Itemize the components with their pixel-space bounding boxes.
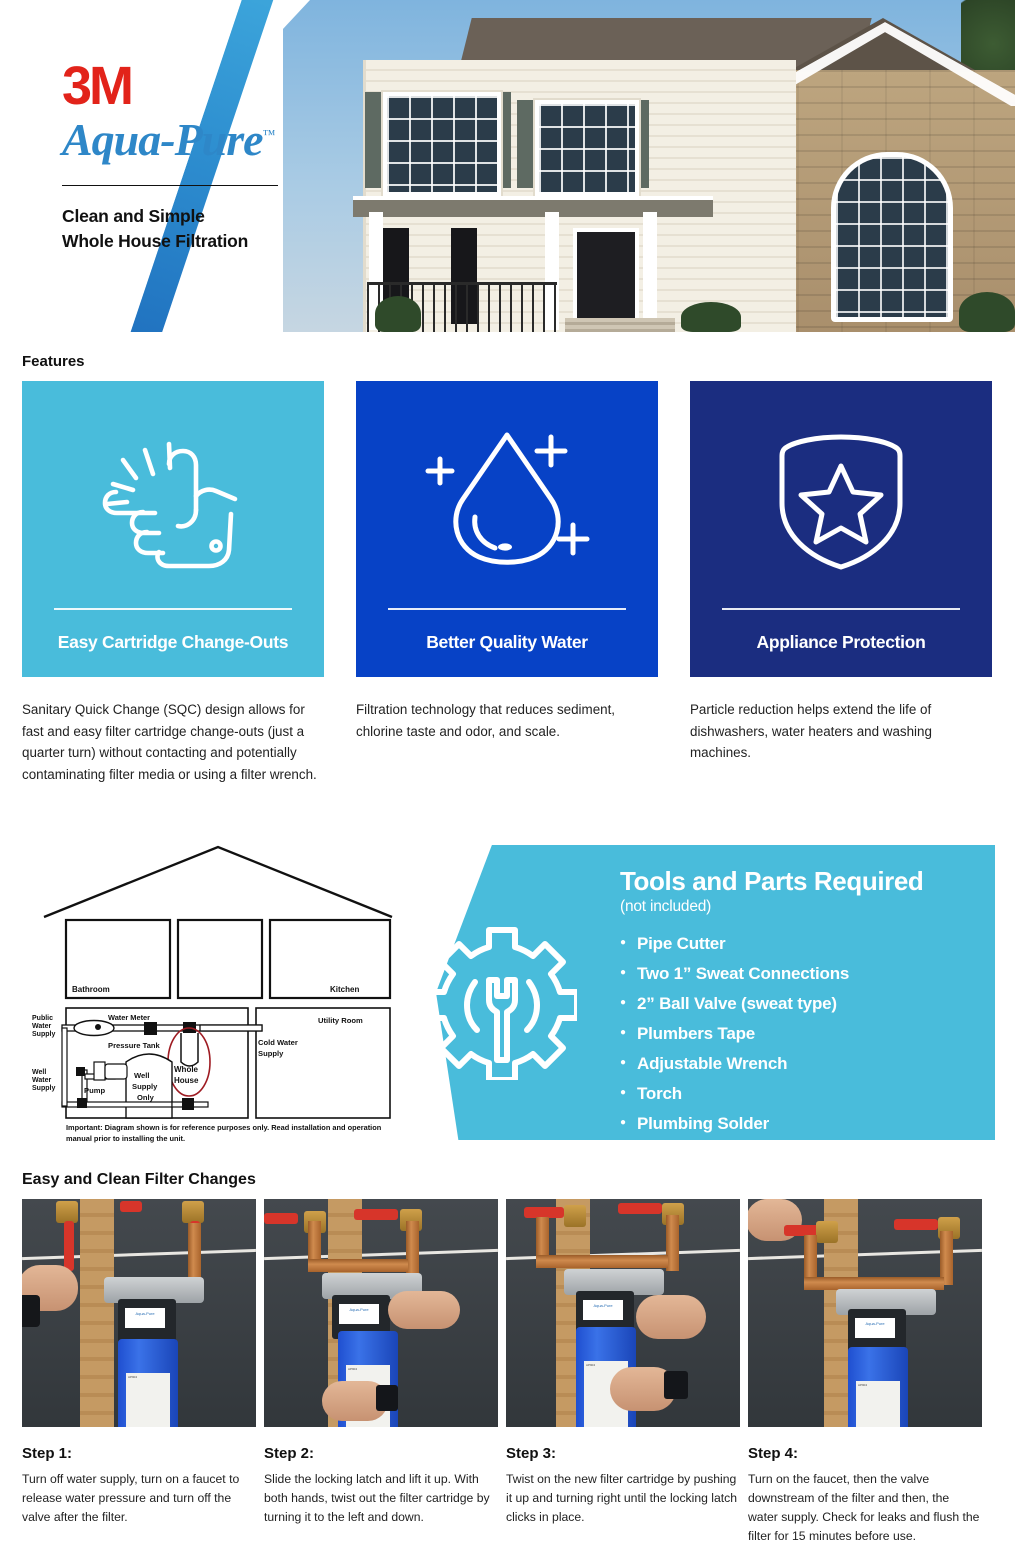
step-1-photo: Aqua-Pure AP904 xyxy=(22,1199,256,1427)
diagram-label-bathroom: Bathroom xyxy=(72,985,110,994)
upper-window xyxy=(535,100,639,196)
tools-list-item: Pipe Cutter xyxy=(620,935,990,952)
tools-list-item: 2” Ball Valve (sweat type) xyxy=(620,995,990,1012)
feature-description: Filtration technology that reduces sedim… xyxy=(356,699,654,742)
card-divider xyxy=(54,608,292,610)
feature-card-better-water: Better Quality Water xyxy=(356,381,658,677)
aqua-pure-wordmark: Aqua-Pure xyxy=(62,114,263,165)
water-droplet-icon xyxy=(356,403,658,598)
feature-column: Better Quality Water Filtration technolo… xyxy=(356,381,658,799)
3m-logo: 3M xyxy=(62,62,352,111)
copper-pipe xyxy=(536,1217,549,1259)
svg-text:Water: Water xyxy=(32,1077,51,1084)
step-2-photo: Aqua-Pure AP904 xyxy=(264,1199,498,1427)
step-description: Slide the locking latch and lift it up. … xyxy=(264,1470,498,1527)
red-valve-handle xyxy=(354,1209,398,1220)
feature-card-easy-cartridge: Easy Cartridge Change-Outs xyxy=(22,381,324,677)
tools-list: Pipe Cutter Two 1” Sweat Connections 2” … xyxy=(620,935,990,1132)
tools-list-item: Adjustable Wrench xyxy=(620,1055,990,1072)
hand xyxy=(636,1295,706,1339)
tools-text-block: Tools and Parts Required (not included) … xyxy=(620,868,990,1145)
diagram-label-pressure-tank: Pressure Tank xyxy=(108,1041,161,1050)
copper-pipe xyxy=(536,1255,668,1268)
brand-divider xyxy=(62,185,278,186)
brand-tagline: Clean and Simple Whole House Filtration xyxy=(62,204,352,255)
features-row: Easy Cartridge Change-Outs Sanitary Quic… xyxy=(22,381,993,799)
sleeve xyxy=(22,1295,40,1327)
svg-text:House: House xyxy=(174,1076,199,1085)
step-column: Aqua-Pure AP904 Step 3: Twist on the new… xyxy=(506,1199,740,1546)
step-description: Turn on the faucet, then the valve downs… xyxy=(748,1470,982,1546)
step-title: Step 1: xyxy=(22,1445,256,1462)
filter-cap-label: Aqua-Pure xyxy=(125,1308,165,1328)
copper-pipe xyxy=(308,1221,321,1263)
diagram-label-cold-water: Cold Water xyxy=(258,1038,298,1047)
step-column: Aqua-Pure AP904 Step 2: Slide the lockin… xyxy=(264,1199,498,1546)
diagram-label-well-supply-only: Well xyxy=(134,1071,149,1080)
filter-cap-label: Aqua-Pure xyxy=(339,1304,379,1324)
upper-window xyxy=(383,92,501,196)
filter-cap-label: Aqua-Pure xyxy=(855,1318,895,1338)
shield-star-icon xyxy=(690,403,992,598)
diagram-label-water-meter: Water Meter xyxy=(108,1013,150,1022)
diagram-label-public-supply: Public xyxy=(32,1015,53,1022)
step-description: Turn off water supply, turn on a faucet … xyxy=(22,1470,256,1527)
feature-column: Easy Cartridge Change-Outs Sanitary Quic… xyxy=(22,381,324,799)
step-column: Aqua-Pure AP904 Step 1: Turn off water s… xyxy=(22,1199,256,1546)
diagram-label-kitchen: Kitchen xyxy=(330,985,359,994)
svg-text:Water: Water xyxy=(32,1023,51,1030)
filter-change-steps-row: Aqua-Pure AP904 Step 1: Turn off water s… xyxy=(22,1199,993,1546)
tools-list-item: Two 1” Sweat Connections xyxy=(620,965,990,982)
diagram-label-utility-room: Utility Room xyxy=(318,1016,363,1025)
plumbing-diagram: Bathroom Kitchen Utility Room Public Wat… xyxy=(22,840,422,1150)
diagram-disclaimer-note: Important: Diagram shown is for referenc… xyxy=(66,1123,396,1144)
window-shutter xyxy=(365,92,382,188)
wrist-watch xyxy=(664,1371,688,1399)
card-divider xyxy=(722,608,960,610)
tools-list-item: Plumbers Tape xyxy=(620,1025,990,1042)
front-door xyxy=(573,228,639,332)
copper-pipe xyxy=(308,1259,408,1272)
wood-stud xyxy=(80,1199,114,1427)
red-valve-handle xyxy=(264,1213,298,1224)
red-valve-handle xyxy=(64,1221,74,1271)
hand xyxy=(388,1291,460,1329)
shrub xyxy=(959,292,1015,332)
pointing-hand-icon xyxy=(22,403,324,598)
feature-card-label: Better Quality Water xyxy=(426,632,588,653)
brand-block: 3M Aqua-Pure™ Clean and Simple Whole Hou… xyxy=(0,0,352,254)
brass-fitting xyxy=(56,1201,78,1223)
diagram-label-pump: Pump xyxy=(84,1086,105,1095)
step-title: Step 3: xyxy=(506,1445,740,1462)
aqua-pure-logo: Aqua-Pure™ xyxy=(62,117,274,163)
step-3-photo: Aqua-Pure AP904 xyxy=(506,1199,740,1427)
tools-subtitle: (not included) xyxy=(620,898,990,916)
feature-card-appliance-protection: Appliance Protection xyxy=(690,381,992,677)
shrub xyxy=(375,296,421,332)
cartridge-label: AP904 xyxy=(856,1381,900,1427)
diagram-label-whole-house: Whole xyxy=(174,1065,199,1074)
svg-text:Supply: Supply xyxy=(32,1085,55,1092)
entry-steps xyxy=(565,318,675,332)
feature-card-label: Appliance Protection xyxy=(756,632,925,653)
red-valve-handle xyxy=(618,1203,662,1214)
filter-cap: Aqua-Pure xyxy=(118,1299,176,1343)
brass-fitting xyxy=(564,1205,586,1227)
feature-column: Appliance Protection Particle reduction … xyxy=(690,381,992,799)
arched-window xyxy=(831,152,953,322)
svg-text:Supply: Supply xyxy=(32,1031,55,1038)
step-title: Step 2: xyxy=(264,1445,498,1462)
gear-wrench-icon xyxy=(427,920,577,1080)
porch-roof xyxy=(353,196,713,217)
svg-text:Supply: Supply xyxy=(132,1082,158,1091)
features-section-title: Features xyxy=(22,353,85,370)
trademark-symbol: ™ xyxy=(263,126,275,141)
header-banner: 3M Aqua-Pure™ Clean and Simple Whole Hou… xyxy=(0,0,1015,332)
cartridge-label: AP904 xyxy=(126,1373,170,1427)
step-column: Aqua-Pure AP904 Step 4: Turn on the fauc… xyxy=(748,1199,982,1546)
porch-column xyxy=(643,212,657,330)
tools-list-item: Plumbing Solder xyxy=(620,1115,990,1132)
brass-fitting xyxy=(816,1221,838,1243)
red-valve-handle xyxy=(120,1201,142,1212)
tools-list-item: Torch xyxy=(620,1085,990,1102)
feature-description: Sanitary Quick Change (SQC) design allow… xyxy=(22,699,320,786)
wrist-watch xyxy=(376,1385,398,1411)
step-4-photo: Aqua-Pure AP904 xyxy=(748,1199,982,1427)
filter-changes-section-title: Easy and Clean Filter Changes xyxy=(22,1171,256,1189)
tagline-line-1: Clean and Simple xyxy=(62,204,352,229)
filter-cap-label: Aqua-Pure xyxy=(583,1300,623,1320)
tagline-line-2: Whole House Filtration xyxy=(62,229,352,254)
feature-description: Particle reduction helps extend the life… xyxy=(690,699,988,764)
filter-cartridge: AP904 xyxy=(118,1339,178,1427)
step-description: Twist on the new filter cartridge by pus… xyxy=(506,1470,740,1527)
diagram-label-well-supply: Well xyxy=(32,1069,46,1076)
filter-cartridge: AP904 xyxy=(848,1347,908,1427)
svg-text:Supply: Supply xyxy=(258,1049,284,1058)
hero-house-photo xyxy=(283,0,1015,332)
copper-pipe xyxy=(804,1235,817,1281)
brass-fitting xyxy=(182,1201,204,1223)
shrub xyxy=(681,302,741,332)
tools-title: Tools and Parts Required xyxy=(620,868,990,895)
card-divider xyxy=(388,608,626,610)
red-valve-handle xyxy=(894,1219,938,1230)
svg-text:Only: Only xyxy=(137,1093,155,1102)
feature-card-label: Easy Cartridge Change-Outs xyxy=(58,632,288,653)
window-shutter xyxy=(517,100,534,188)
copper-pipe xyxy=(188,1223,201,1285)
step-title: Step 4: xyxy=(748,1445,982,1462)
